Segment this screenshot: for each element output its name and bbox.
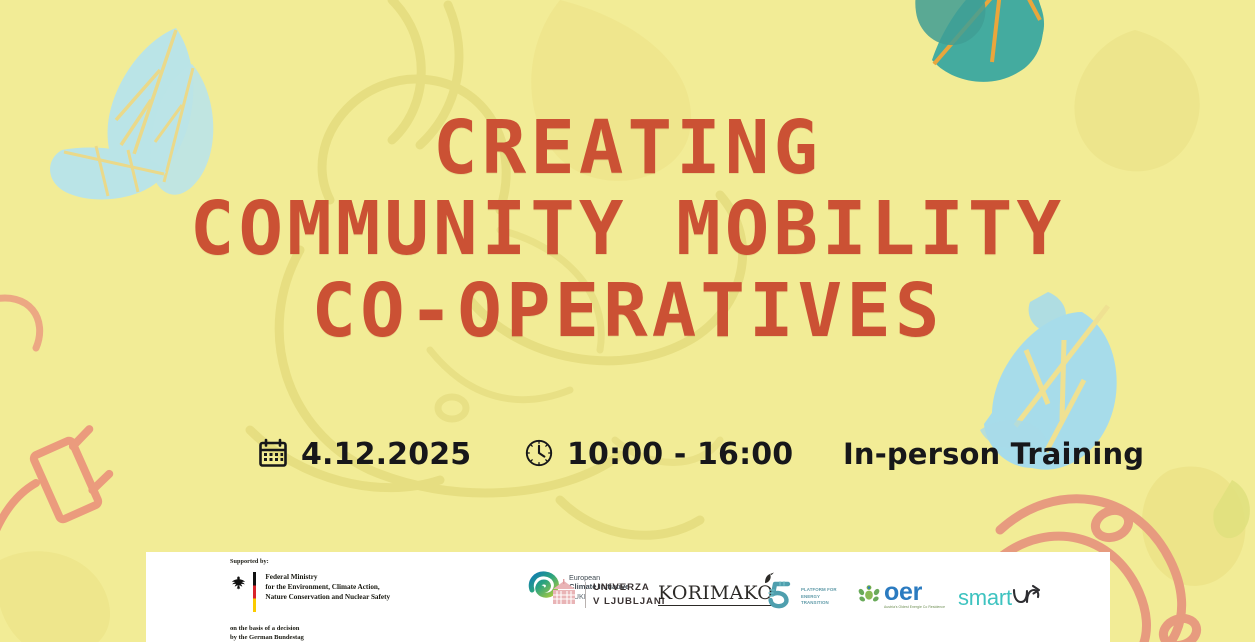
poster-canvas: CREATING COMMUNITY MOBILITY CO-OPERATIVE… — [0, 0, 1255, 642]
title-line-3: CO-OPERATIVES — [0, 275, 1255, 348]
event-format-text: In-person Training — [843, 437, 1144, 471]
poster-title: CREATING COMMUNITY MOBILITY CO-OPERATIVE… — [0, 112, 1255, 348]
number-five-icon — [766, 580, 796, 614]
platform5-line-1: Platform for — [801, 587, 837, 594]
event-meta-row: 4.12.2025 10:00 - 16:00 In-person Trai — [0, 437, 1255, 489]
korimako-wordmark: KORIMAKO — [658, 584, 773, 606]
logo-oer: oer Austria's Oldest Energie Co Residenc… — [858, 582, 945, 610]
platform5-wordmark: Platform for Energy Transition — [801, 587, 837, 607]
ministry-line-1: Federal Ministry — [265, 572, 390, 582]
univerza-building-icon — [550, 579, 578, 611]
german-flag-bar — [253, 572, 256, 612]
oer-subtitle: Austria's Oldest Energie Co Residence — [884, 605, 945, 609]
ministry-line-2: for the Environment, Climate Action, — [265, 582, 390, 592]
title-line-2: COMMUNITY MOBILITY — [0, 193, 1255, 266]
platform5-line-2: Energy — [801, 594, 837, 601]
smartup-arrow-icon — [1011, 584, 1041, 612]
event-date-text: 4.12.2025 — [301, 437, 471, 472]
unilj-divider — [585, 582, 586, 608]
smartup-wordmark: smart — [958, 587, 1012, 609]
logo-platform-5: Platform for Energy Transition — [766, 580, 837, 614]
oer-wordmark-group: oer Austria's Oldest Energie Co Residenc… — [884, 582, 945, 609]
oer-leaf-person-icon — [858, 584, 880, 610]
german-federal-eagle-icon — [230, 573, 247, 594]
clock-icon — [524, 438, 554, 472]
ministry-name: Federal Ministry for the Environment, Cl… — [262, 572, 390, 603]
unilj-line-1: UNIVERZA — [593, 581, 665, 595]
unilj-wordmark: UNIVERZA V LJUBLJANI — [593, 581, 665, 608]
event-time: 10:00 - 16:00 — [524, 437, 793, 472]
supported-by-label: Supported by: — [230, 558, 560, 565]
bundestag-note-line-2: by the German Bundestag — [230, 633, 560, 642]
ministry-line-3: Nature Conservation and Nuclear Safety — [265, 592, 390, 602]
title-line-1: CREATING — [0, 112, 1255, 185]
platform5-line-3: Transition — [801, 600, 837, 607]
event-time-text: 10:00 - 16:00 — [567, 437, 793, 472]
bundestag-note: on the basis of a decision by the German… — [230, 624, 560, 642]
unilj-line-2: V LJUBLJANI — [593, 595, 665, 609]
logo-smartup: smart — [958, 584, 1041, 612]
event-format: In-person Training — [843, 437, 1144, 471]
logo-strip: Supported by: Federal Minist — [146, 552, 1110, 642]
event-date: 4.12.2025 — [258, 437, 471, 472]
logo-german-federal-ministry: Supported by: Federal Minist — [230, 558, 560, 642]
sponsor-logo-band: Supported by: Federal Minist — [146, 552, 1110, 642]
oer-wordmark: oer — [884, 582, 945, 603]
logo-university-of-ljubljana: UNIVERZA V LJUBLJANI — [550, 579, 665, 611]
calendar-icon — [258, 438, 288, 472]
bundestag-note-line-1: on the basis of a decision — [230, 624, 560, 633]
